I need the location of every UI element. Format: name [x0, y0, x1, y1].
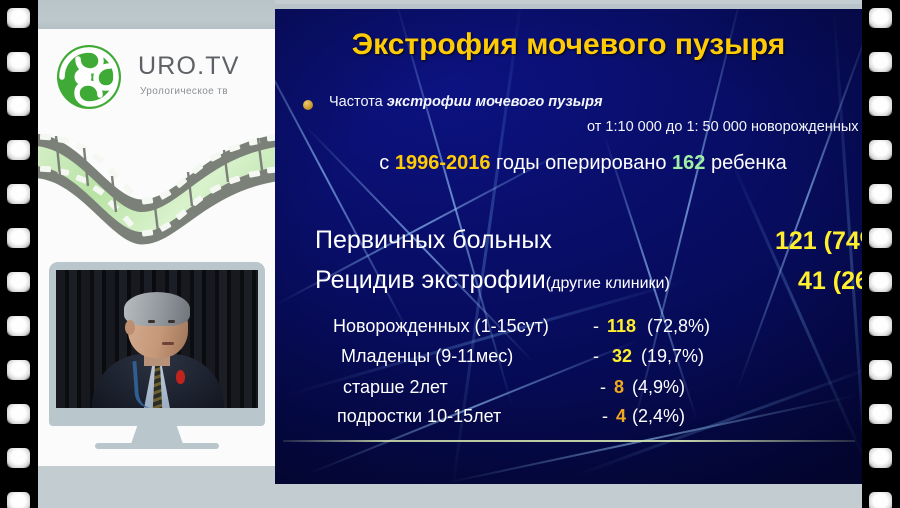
primary-patients-value: 121 (74%) — [775, 227, 862, 256]
frequency-bullet-row: Частота экстрофии мочевого пузыря — [303, 94, 862, 116]
branding-panel: URO.TV Урологическое тв — [38, 0, 275, 508]
film-perforation — [7, 492, 30, 508]
film-perforation — [869, 96, 892, 116]
bullet-dot-icon — [303, 100, 313, 110]
content-stage: URO.TV Урологическое тв — [38, 0, 862, 508]
age-group-dash: - — [593, 316, 599, 337]
film-perforation — [7, 140, 30, 160]
frequency-bullet-emphasis: экстрофии мочевого пузыря — [387, 94, 603, 110]
film-perforation — [869, 228, 892, 248]
primary-patients-label: Первичных больных — [315, 226, 552, 255]
speaker-hair — [124, 292, 190, 326]
frequency-range-text: от 1:10 000 до 1: 50 000 новорожденных — [587, 119, 859, 135]
operated-count: 162 — [672, 152, 705, 174]
slide-title: Экстрофия мочевого пузыря — [275, 28, 862, 62]
age-group-row: старше 2лет - 8 (4,9%) — [275, 377, 835, 405]
monitor-stand-neck — [131, 426, 183, 444]
film-perforation — [869, 8, 892, 28]
speaker-eye-left — [148, 320, 155, 323]
age-group-percent: (4,9%) — [632, 377, 685, 398]
relapse-note: (другие клиники) — [546, 275, 670, 292]
speaker-lanyard — [132, 359, 169, 408]
film-perforation — [7, 8, 30, 28]
frequency-bullet-prefix: Частота — [329, 94, 387, 110]
film-perforation — [869, 448, 892, 468]
film-perforation — [869, 184, 892, 204]
film-perforation — [7, 360, 30, 380]
age-group-label: старше 2лет — [343, 377, 448, 398]
film-perforation — [869, 492, 892, 508]
primary-patients-row: Первичных больных 121 (74%) — [315, 226, 862, 260]
film-perforation — [7, 184, 30, 204]
relapse-row: Рецидив экстрофии(другие клиники) 41 (26… — [315, 266, 862, 300]
speaker-lapel-pin — [176, 370, 185, 384]
monitor-stand-base — [95, 443, 219, 449]
speaker-ear — [125, 320, 135, 335]
slide-divider — [283, 440, 855, 442]
presentation-slide: Экстрофия мочевого пузыря Частота экстро… — [275, 4, 862, 484]
relapse-label-text: Рецидив экстрофии — [315, 266, 546, 294]
age-group-row: Новорожденных (1-15сут) - 118 (72,8%) — [275, 316, 835, 344]
uro-tv-swirl-logo-icon — [56, 44, 122, 110]
film-perforation — [7, 272, 30, 292]
brand-subtitle: Урологическое тв — [140, 86, 228, 97]
monitor-icon — [49, 262, 265, 458]
relapse-label: Рецидив экстрофии(другие клиники) — [315, 266, 670, 295]
film-perforation — [7, 316, 30, 336]
film-perforation — [869, 52, 892, 72]
age-group-row: подростки 10-15лет - 4 (2,4%) — [275, 406, 835, 434]
film-perforation — [7, 96, 30, 116]
age-group-count: 32 — [612, 346, 632, 367]
film-perforation — [869, 272, 892, 292]
age-group-row: Младенцы (9-11мес) - 32 (19,7%) — [275, 346, 835, 374]
film-perforation — [869, 140, 892, 160]
age-group-dash: - — [600, 377, 606, 398]
speaker-eye-right — [168, 320, 175, 323]
relapse-value: 41 (26%) — [798, 267, 862, 296]
film-perforation — [7, 52, 30, 72]
operated-summary-line: с 1996-2016 годы оперировано 162 ребенка — [303, 152, 862, 175]
film-perforation — [7, 404, 30, 424]
film-perforation-column-left — [0, 0, 38, 508]
operated-middle: годы оперировано — [490, 152, 672, 174]
age-group-label: Новорожденных (1-15сут) — [333, 316, 549, 337]
film-perforation — [869, 360, 892, 380]
film-perforation — [869, 316, 892, 336]
speaker-mouth — [162, 342, 174, 345]
panel-bottom-bar — [38, 466, 275, 508]
age-group-dash: - — [602, 406, 608, 427]
age-group-count: 118 — [607, 316, 636, 337]
age-group-count: 8 — [614, 377, 624, 398]
slide-content: Экстрофия мочевого пузыря Частота экстро… — [275, 4, 862, 484]
age-group-percent: (19,7%) — [641, 346, 704, 367]
operated-suffix: ребенка — [705, 152, 786, 174]
film-strip-icon — [38, 128, 278, 256]
frequency-bullet-text: Частота экстрофии мочевого пузыря — [329, 94, 603, 110]
age-group-percent: (2,4%) — [632, 406, 685, 427]
operated-prefix: с — [379, 152, 395, 174]
operated-years: 1996-2016 — [395, 152, 491, 174]
film-perforation — [7, 228, 30, 248]
age-group-label: Младенцы (9-11мес) — [341, 346, 513, 367]
film-perforation — [7, 448, 30, 468]
film-frame: URO.TV Урологическое тв — [0, 0, 900, 508]
brand-title: URO.TV — [138, 52, 240, 81]
age-group-percent: (72,8%) — [647, 316, 710, 337]
age-group-label: подростки 10-15лет — [337, 406, 501, 427]
age-group-count: 4 — [616, 406, 626, 427]
brand-logo-block: URO.TV Урологическое тв — [56, 42, 266, 120]
film-perforation — [869, 404, 892, 424]
film-perforation-column-right — [862, 0, 900, 508]
age-group-dash: - — [593, 346, 599, 367]
speaker-video-frame[interactable] — [56, 270, 258, 408]
panel-top-bar — [38, 0, 275, 29]
